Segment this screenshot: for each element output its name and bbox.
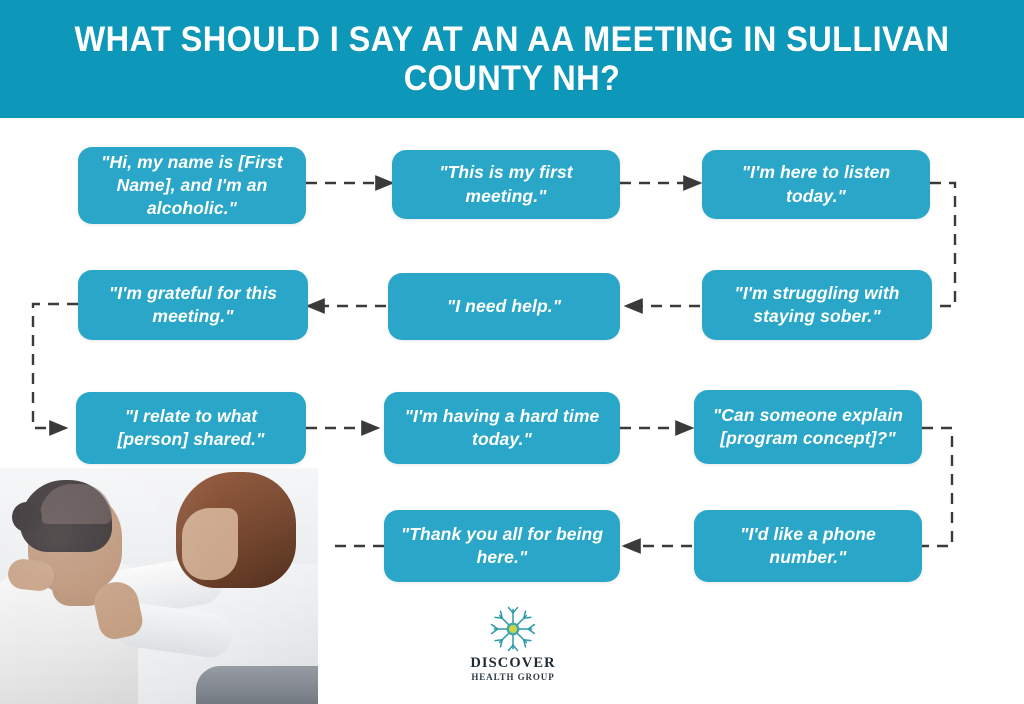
flow-node-label: "This is my first meeting." [404,161,608,207]
flow-node-n7[interactable]: "I relate to what [person] shared." [76,392,306,464]
flow-node-label: "I'm struggling with staying sober." [714,282,920,328]
flow-node-label: "I'm grateful for this meeting." [90,282,296,328]
neuron-starburst-icon [486,604,540,654]
flow-node-n1[interactable]: "Hi, my name is [First Name], and I'm an… [78,147,306,224]
flow-node-n8[interactable]: "I'm having a hard time today." [384,392,620,464]
photo-lighting-overlay [0,468,318,704]
page-title: WHAT SHOULD I SAY AT AN AA MEETING IN SU… [36,20,988,98]
flow-node-n3[interactable]: "I'm here to listen today." [702,150,930,219]
flow-node-label: "I'd like a phone number." [706,523,910,569]
edge-n3-n6 [930,183,955,306]
header-banner: WHAT SHOULD I SAY AT AN AA MEETING IN SU… [0,0,1024,118]
flow-node-n5[interactable]: "I need help." [388,273,620,340]
flow-node-label: "I need help." [447,295,561,318]
flow-node-n11[interactable]: "I'd like a phone number." [694,510,922,582]
logo-tagline: HEALTH GROUP [471,673,554,682]
brand-logo: DISCOVER HEALTH GROUP [455,604,571,688]
flow-node-n2[interactable]: "This is my first meeting." [392,150,620,219]
flow-node-n6[interactable]: "I'm struggling with staying sober." [702,270,932,340]
flow-node-n4[interactable]: "I'm grateful for this meeting." [78,270,308,340]
neuron-core [509,625,517,633]
logo-wordmark: DISCOVER [470,656,555,671]
flow-node-label: "I'm here to listen today." [714,161,918,207]
flow-node-label: "Hi, my name is [First Name], and I'm an… [90,151,294,220]
flow-node-label: "I'm having a hard time today." [396,405,608,451]
flow-node-label: "Can someone explain [program concept]?" [706,404,910,450]
flow-node-n9[interactable]: "Can someone explain [program concept]?" [694,390,922,464]
infographic-page: WHAT SHOULD I SAY AT AN AA MEETING IN SU… [0,0,1024,704]
flow-node-label: "Thank you all for being here." [396,523,608,569]
edge-n9-n11 [922,428,952,546]
edge-n4-n7 [33,304,78,428]
flow-node-n10[interactable]: "Thank you all for being here." [384,510,620,582]
flow-node-label: "I relate to what [person] shared." [88,405,294,451]
healthcare-worker-comforting-patient-photo [0,468,318,704]
